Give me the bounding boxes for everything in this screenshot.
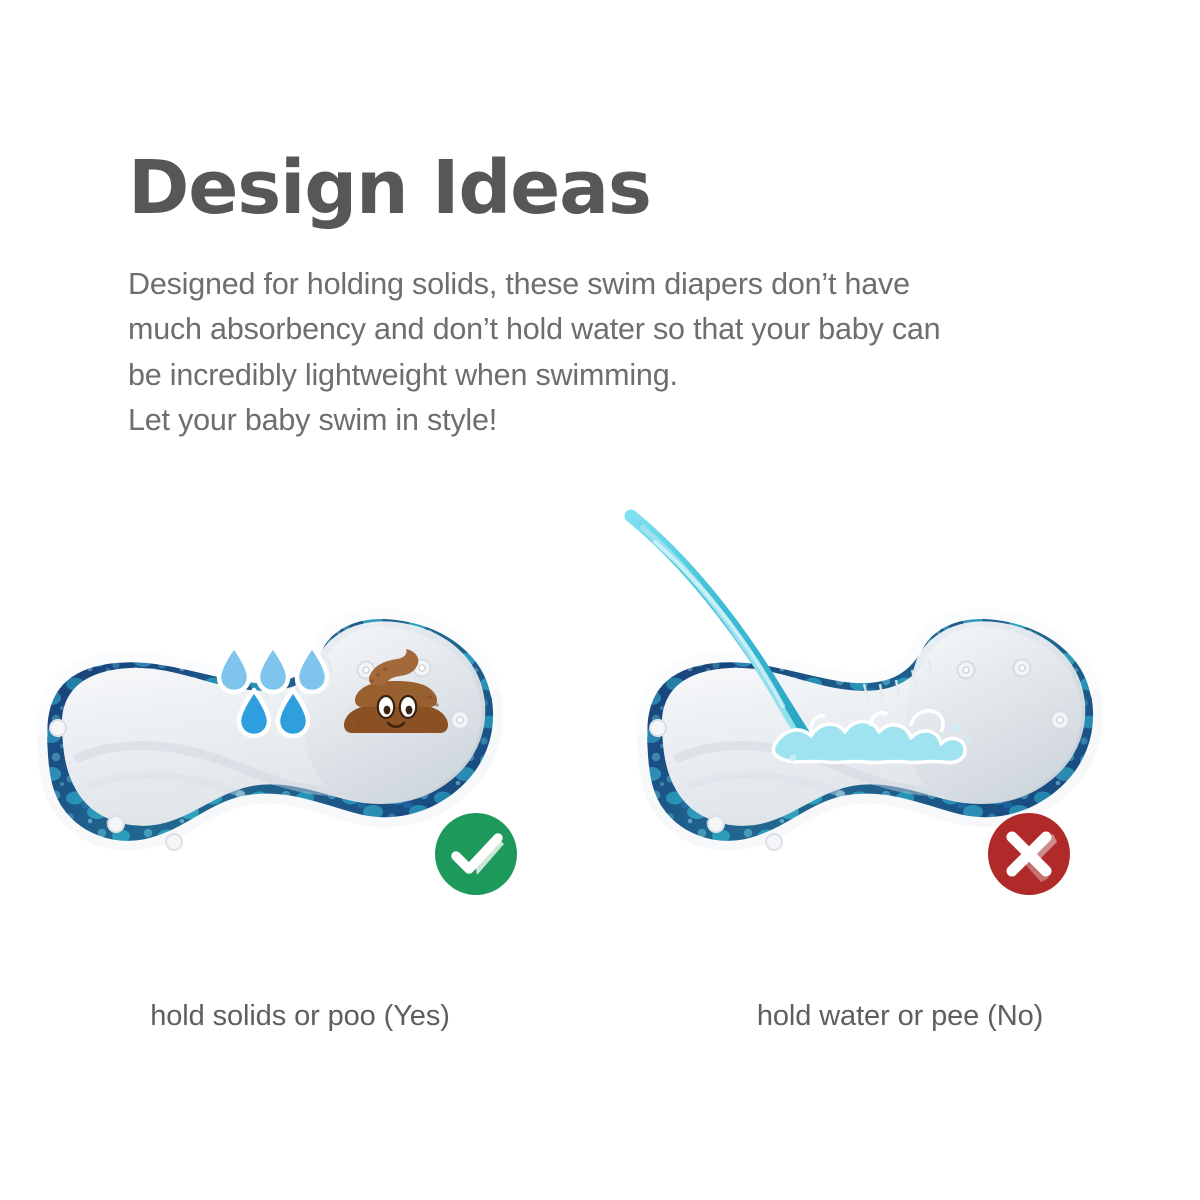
comparison-panels: hold solids or poo (Yes)	[0, 500, 1200, 1100]
status-badge-yes	[434, 812, 518, 896]
caption-hold-solids: hold solids or poo (Yes)	[0, 1000, 600, 1033]
header-block: Design Ideas Designed for holding solids…	[128, 150, 1118, 443]
panel-solids-stage	[0, 500, 600, 970]
infographic-page: Design Ideas Designed for holding solids…	[0, 0, 1200, 1200]
panel-hold-water: hold water or pee (No)	[600, 500, 1200, 1100]
poop-emoji-icon	[342, 645, 450, 737]
intro-line-1: Designed for holding solids, these swim …	[128, 262, 1108, 307]
check-circle-icon	[435, 813, 517, 895]
intro-line-3: be incredibly lightweight when swimming.	[128, 353, 1108, 398]
page-title: Design Ideas	[128, 150, 1118, 228]
panel-water-stage	[600, 500, 1200, 970]
intro-line-4: Let your baby swim in style!	[128, 398, 1108, 443]
water-droplets-icon	[216, 640, 338, 742]
caption-hold-water: hold water or pee (No)	[600, 1000, 1200, 1033]
intro-paragraph: Designed for holding solids, these swim …	[128, 262, 1108, 444]
status-badge-no	[987, 812, 1071, 896]
intro-line-2: much absorbency and don’t hold water so …	[128, 307, 1108, 352]
panel-hold-solids: hold solids or poo (Yes)	[0, 500, 600, 1100]
